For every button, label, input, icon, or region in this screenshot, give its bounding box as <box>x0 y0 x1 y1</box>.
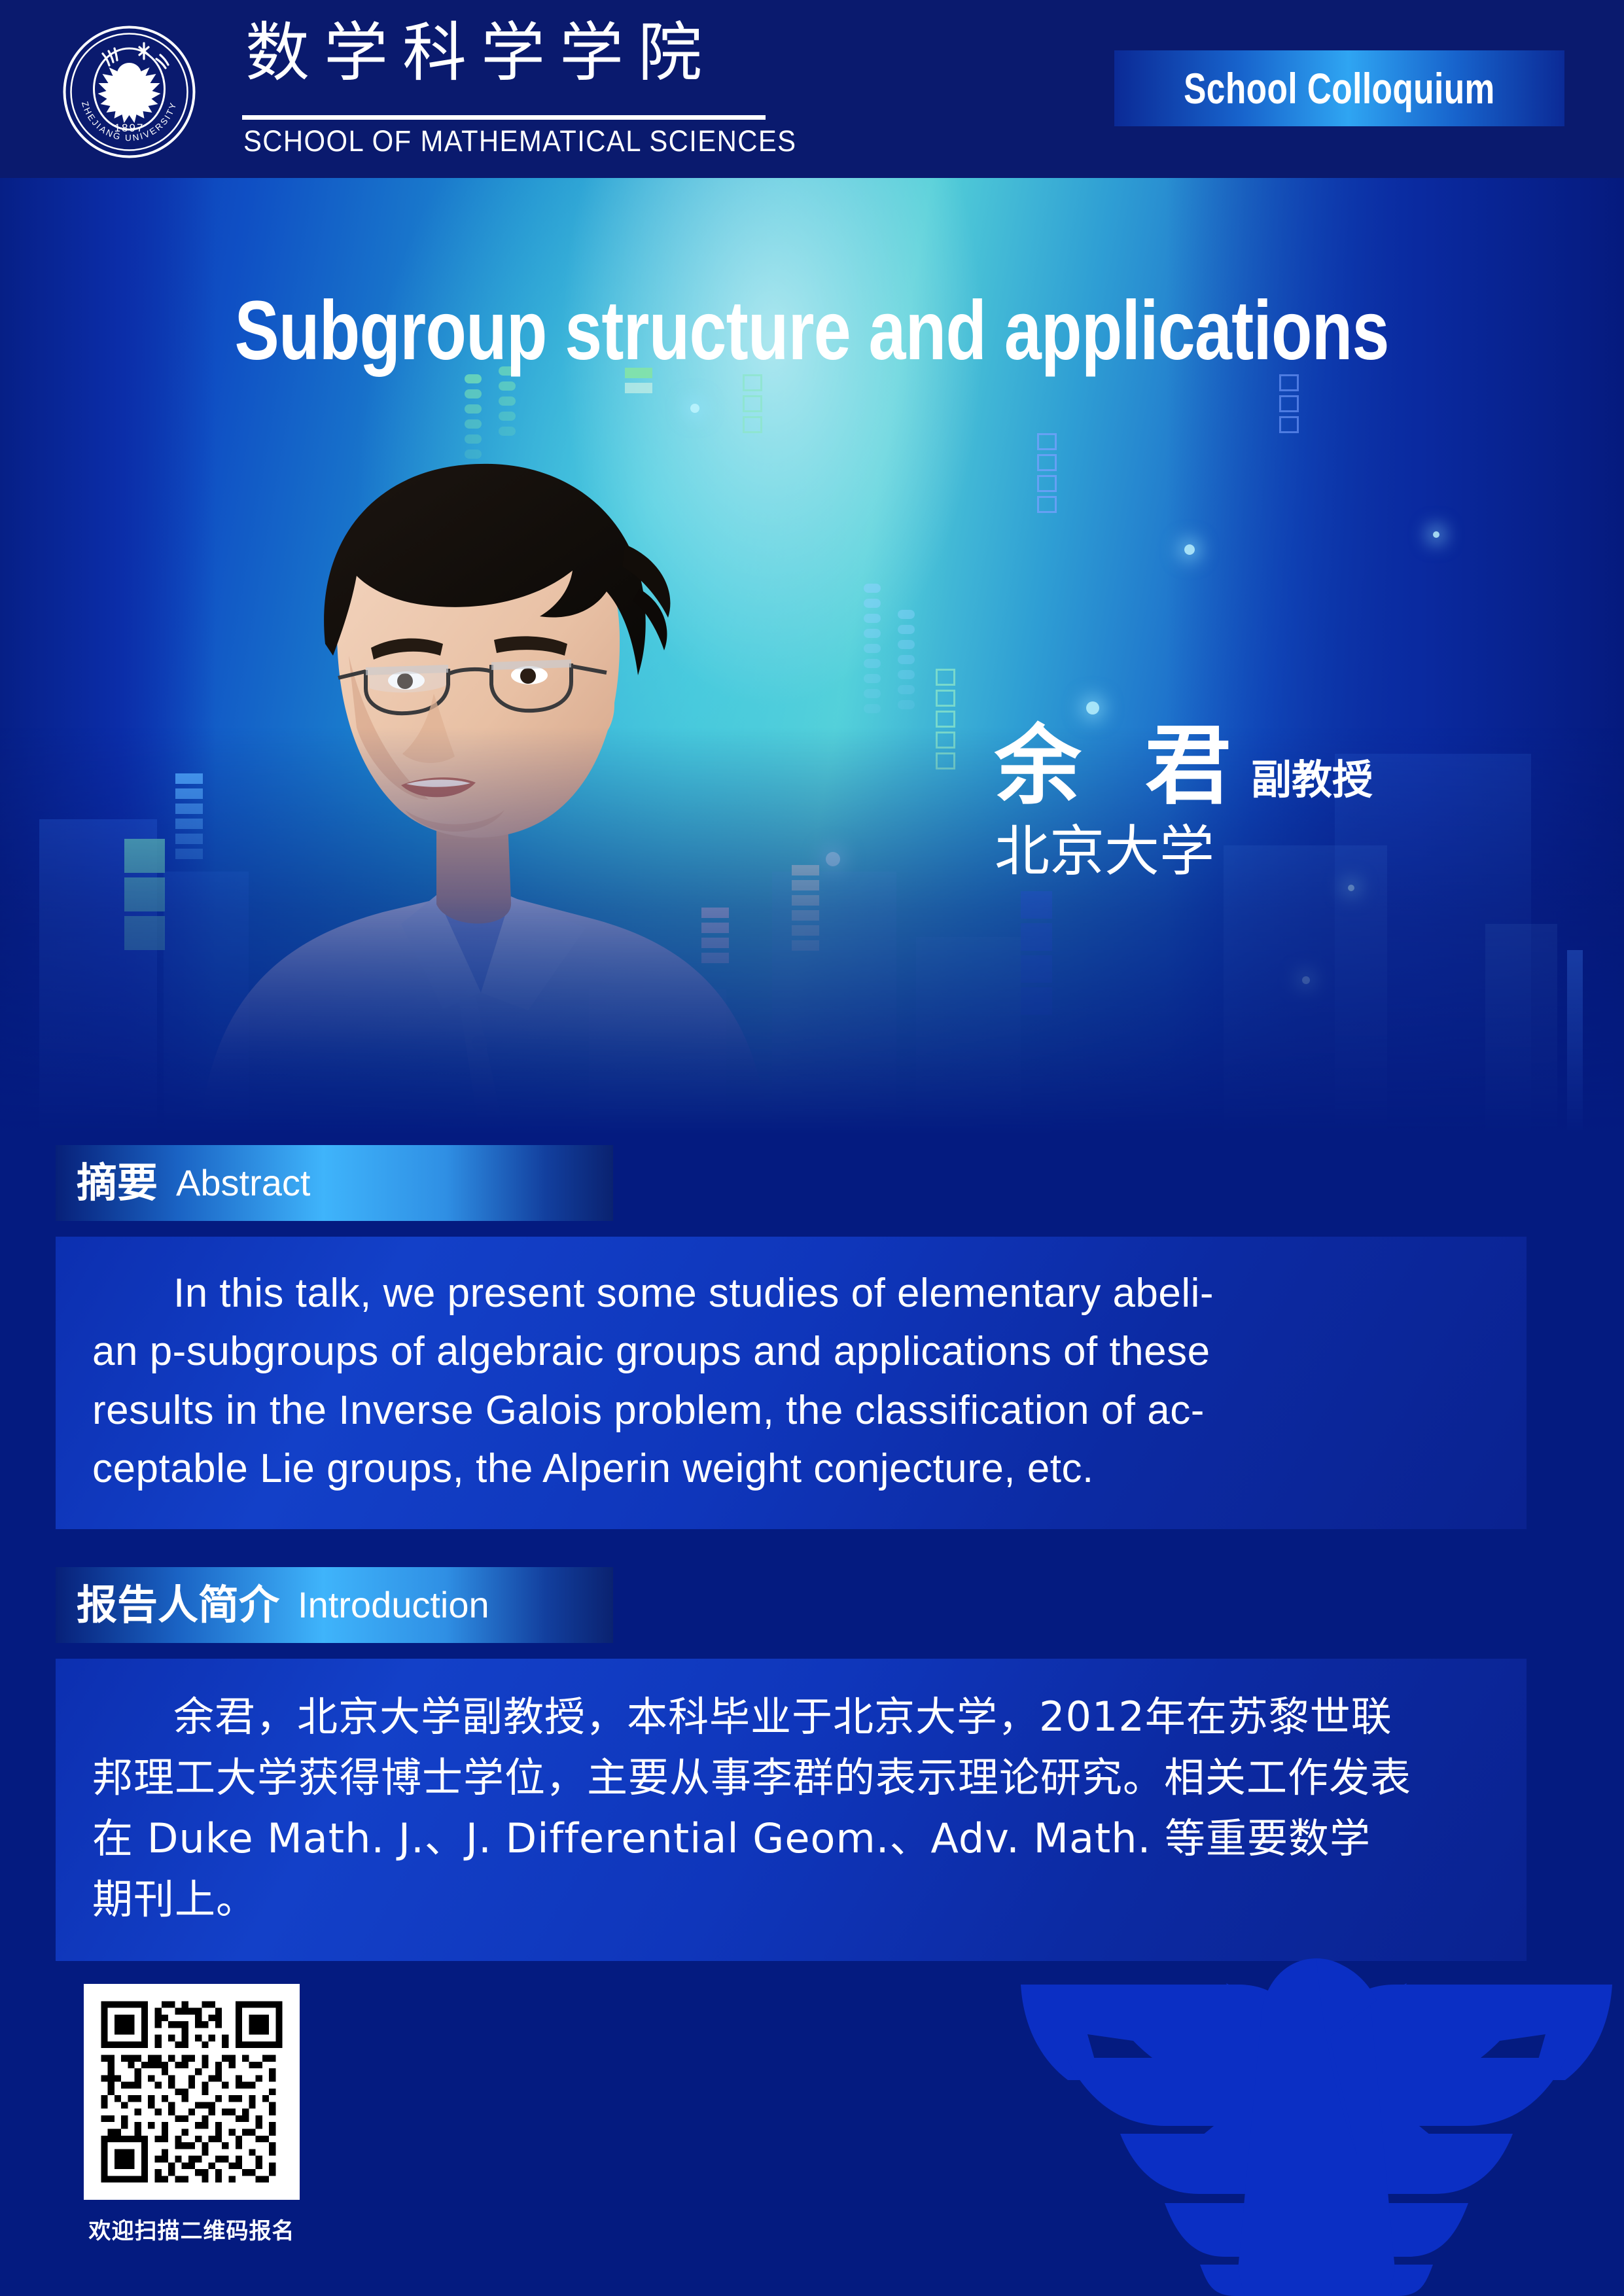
poster-header: ZHEJIANG UNIVERSITY 1897 数学科学学院 SCHOOL O… <box>0 0 1624 178</box>
speaker-info: 余 君 副教授 北京大学 <box>995 721 1373 881</box>
introduction-line: 邦理工大学获得博士学位，主要从事李群的表示理论研究。相关工作发表 <box>92 1747 1490 1808</box>
seal-year: 1897 <box>115 122 145 134</box>
talk-title: Subgroup structure and applications <box>0 289 1624 373</box>
deco-sparkle <box>1433 531 1439 538</box>
zju-seal-icon: ZHEJIANG UNIVERSITY 1897 <box>62 25 196 159</box>
abstract-section-header: 摘要 Abstract <box>56 1145 613 1221</box>
introduction-body: 余君，北京大学副教授，本科毕业于北京大学，2012年在苏黎世联 邦理工大学获得博… <box>56 1659 1527 1961</box>
deco-square-column <box>1279 374 1299 433</box>
qiushi-eagle-watermark-icon <box>970 1930 1624 2296</box>
deco-dot-column <box>898 610 915 709</box>
abstract-line: an p-subgroups of algebraic groups and a… <box>92 1322 1490 1381</box>
deco-sparkle <box>1184 544 1195 555</box>
deco-dot-column <box>864 584 881 713</box>
introduction-heading-cn: 报告人简介 <box>77 1585 279 1625</box>
introduction-section-header: 报告人简介 Introduction <box>56 1567 613 1643</box>
abstract-line: results in the Inverse Galois problem, t… <box>92 1381 1490 1439</box>
talk-title-text: Subgroup structure and applications <box>235 289 1389 373</box>
introduction-line: 在 Duke Math. J.、J. Differential Geom.、Ad… <box>92 1808 1490 1869</box>
introduction-line: 余君，北京大学副教授，本科毕业于北京大学，2012年在苏黎世联 <box>92 1686 1490 1747</box>
abstract-body: In this talk, we present some studies of… <box>56 1237 1527 1529</box>
abstract-heading-en: Abstract <box>176 1165 310 1201</box>
speaker-rank: 副教授 <box>1251 760 1373 800</box>
abstract-line: ceptable Lie groups, the Alperin weight … <box>92 1439 1490 1498</box>
speaker-name: 余 君 <box>995 721 1248 812</box>
seminar-poster: ZHEJIANG UNIVERSITY 1897 数学科学学院 SCHOOL O… <box>0 0 1624 2296</box>
introduction-heading-en: Introduction <box>298 1587 489 1623</box>
speaker-affiliation: 北京大学 <box>995 821 1373 881</box>
institution-name-en: SCHOOL OF MATHEMATICAL SCIENCES <box>243 126 796 156</box>
registration-qr: 欢迎扫描二维码报名 <box>84 1984 300 2245</box>
abstract-heading-cn: 摘要 <box>77 1163 158 1203</box>
hero-banner: Subgroup structure and applications 余 君 … <box>0 178 1624 1133</box>
qr-code-image[interactable] <box>84 1984 300 2200</box>
qr-caption: 欢迎扫描二维码报名 <box>84 2213 300 2245</box>
colloquium-badge: School Colloquium <box>1114 50 1564 126</box>
colloquium-badge-label: School Colloquium <box>1184 63 1495 113</box>
abstract-line: In this talk, we present some studies of… <box>92 1264 1490 1322</box>
zju-logo: ZHEJIANG UNIVERSITY 1897 <box>62 25 200 159</box>
institution-name-cn: 数学科学学院 <box>245 21 716 85</box>
header-divider <box>242 115 766 120</box>
deco-sparkle <box>1086 701 1099 715</box>
deco-square-column <box>1037 433 1057 513</box>
introduction-line: 期刊上。 <box>92 1869 1490 1930</box>
